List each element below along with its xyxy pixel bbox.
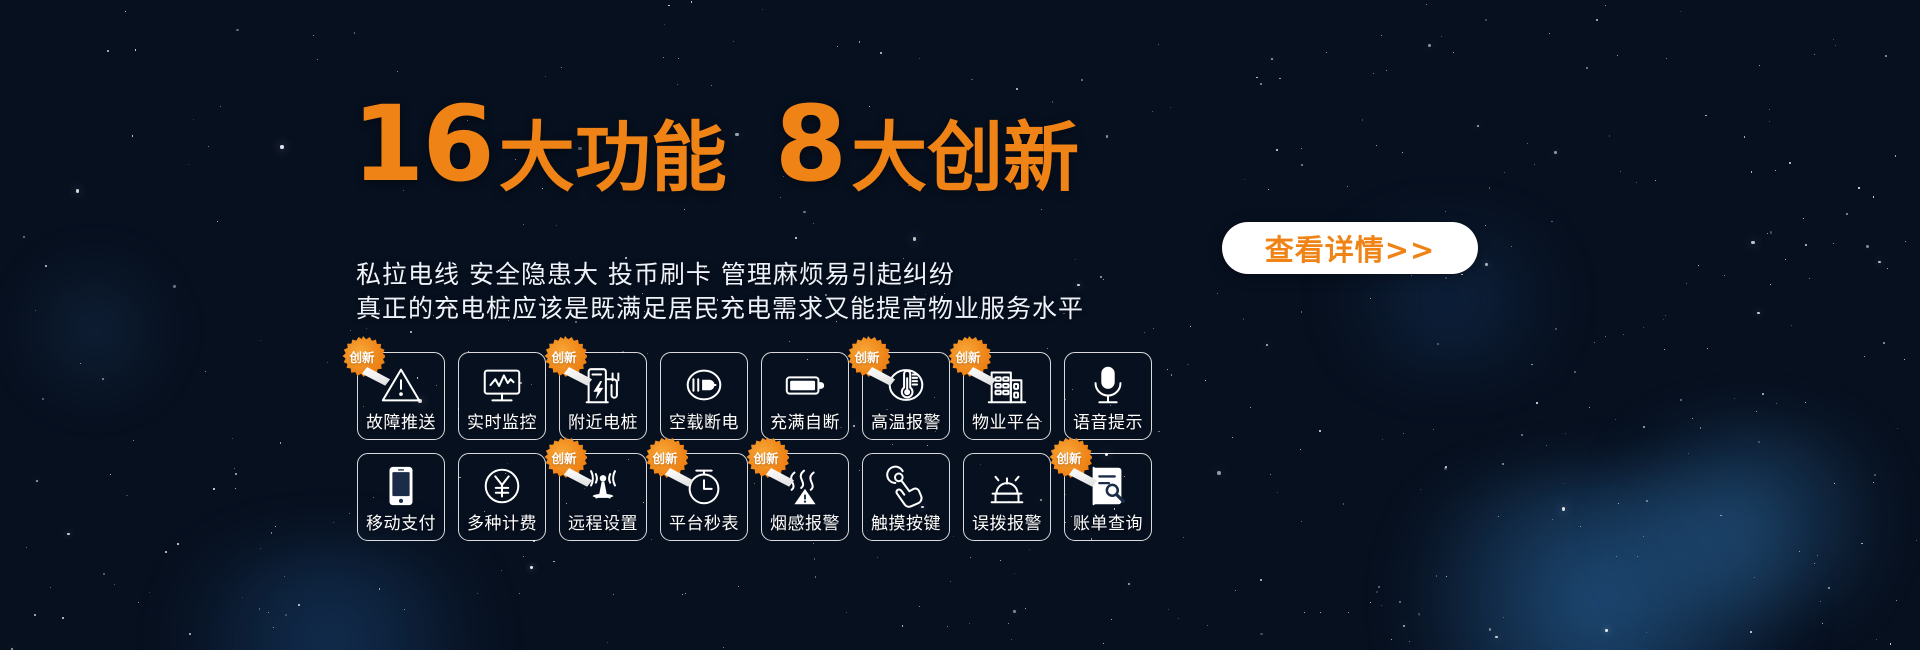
thermometer-icon [883,362,929,408]
feature-card-label: 移动支付 [358,515,444,534]
feature-card-label: 触摸按键 [863,515,949,534]
feature-card-远程设置[interactable]: 创新远程设置 [559,453,647,541]
feature-card-label: 高温报警 [863,414,949,433]
feature-card-实时监控[interactable]: 实时监控 [458,352,546,440]
feature-card-语音提示[interactable]: 语音提示 [1064,352,1152,440]
feature-card-label: 误拨报警 [964,515,1050,534]
phone-yuan-icon [378,463,424,509]
feature-row-1: 创新故障推送实时监控创新附近电桩空载断电充满自断创新高温报警创新物业平台语音提示 [357,352,1152,440]
touch-hand-icon [883,463,929,509]
feature-card-平台秒表[interactable]: 创新平台秒表 [660,453,748,541]
feature-card-触摸按键[interactable]: 触摸按键 [862,453,950,541]
feature-card-label: 充满自断 [762,414,848,433]
stopwatch-icon [681,463,727,509]
feature-card-多种计费[interactable]: 多种计费 [458,453,546,541]
feature-card-label: 账单查询 [1065,515,1151,534]
feature-card-物业平台[interactable]: 创新物业平台 [963,352,1051,440]
headline-number-16: 16 [352,92,493,196]
feature-card-高温报警[interactable]: 创新高温报警 [862,352,950,440]
feature-card-附近电桩[interactable]: 创新附近电桩 [559,352,647,440]
headline-number-8: 8 [775,92,845,196]
battery-full-icon [782,362,828,408]
smoke-alarm-icon [782,463,828,509]
feature-card-充满自断[interactable]: 充满自断 [761,352,849,440]
antenna-signal-icon [580,463,626,509]
feature-card-误拨报警[interactable]: 误拨报警 [963,453,1051,541]
feature-card-label: 远程设置 [560,515,646,534]
bill-search-icon [1085,463,1131,509]
feature-card-label: 实时监控 [459,414,545,433]
feature-card-label: 物业平台 [964,414,1050,433]
subtitle-block: 私拉电线 安全隐患大 投币刷卡 管理麻烦易引起纠纷 真正的充电桩应该是既满足居民… [356,258,1084,326]
feature-grid: 创新故障推送实时监控创新附近电桩空载断电充满自断创新高温报警创新物业平台语音提示… [357,352,1152,541]
buildings-icon [984,362,1030,408]
headline-text-innovations: 大创新 [851,120,1079,196]
charging-pile-icon [580,362,626,408]
feature-card-账单查询[interactable]: 创新账单查询 [1064,453,1152,541]
feature-card-烟感报警[interactable]: 创新烟感报警 [761,453,849,541]
subtitle-line-1: 私拉电线 安全隐患大 投币刷卡 管理麻烦易引起纠纷 [356,258,1084,292]
feature-card-label: 故障推送 [358,414,444,433]
plug-disconnect-icon [681,362,727,408]
view-details-button[interactable]: 查看详情>> [1222,222,1478,274]
microphone-icon [1085,362,1131,408]
feature-card-label: 烟感报警 [762,515,848,534]
subtitle-line-2: 真正的充电桩应该是既满足居民充电需求又能提高物业服务水平 [356,292,1084,326]
feature-card-空载断电[interactable]: 空载断电 [660,352,748,440]
yuan-circle-icon [479,463,525,509]
feature-card-label: 语音提示 [1065,414,1151,433]
feature-card-label: 附近电桩 [560,414,646,433]
feature-row-2: 移动支付多种计费创新远程设置创新平台秒表创新烟感报警触摸按键误拨报警创新账单查询 [357,453,1152,541]
feature-card-移动支付[interactable]: 移动支付 [357,453,445,541]
feature-card-label: 空载断电 [661,414,747,433]
page-title: 16 大功能 8 大创新 [352,92,1079,196]
feature-card-故障推送[interactable]: 创新故障推送 [357,352,445,440]
siren-icon [984,463,1030,509]
feature-card-label: 多种计费 [459,515,545,534]
warning-triangle-icon [378,362,424,408]
monitor-waveform-icon [479,362,525,408]
headline-text-functions: 大功能 [499,120,727,196]
feature-card-label: 平台秒表 [661,515,747,534]
banner-stage: 16 大功能 8 大创新 私拉电线 安全隐患大 投币刷卡 管理麻烦易引起纠纷 真… [0,0,1920,650]
